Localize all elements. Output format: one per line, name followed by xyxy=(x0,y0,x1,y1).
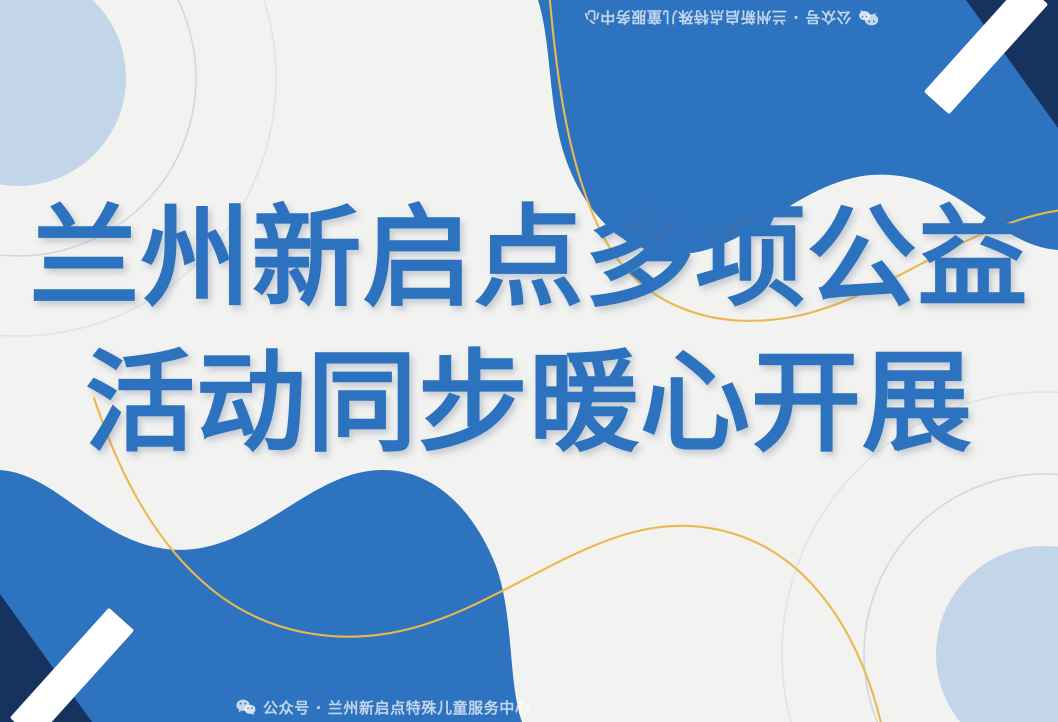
background-artwork xyxy=(0,0,1058,722)
wechat-icon xyxy=(236,699,256,716)
wechat-icon xyxy=(859,9,879,26)
watermark-top: 公众号 · 兰州新启点特殊儿童服务中心 xyxy=(584,7,879,28)
watermark-bottom: 公众号 · 兰州新启点特殊儿童服务中心 xyxy=(236,697,531,718)
watermark-bottom-text: 公众号 · 兰州新启点特殊儿童服务中心 xyxy=(263,697,531,718)
poster-canvas: 兰州新启点多项公益 活动同步暖心开展 公众号 · 兰州新启点特殊儿童服务中心 xyxy=(0,0,1058,722)
watermark-top-text: 公众号 · 兰州新启点特殊儿童服务中心 xyxy=(584,7,852,28)
